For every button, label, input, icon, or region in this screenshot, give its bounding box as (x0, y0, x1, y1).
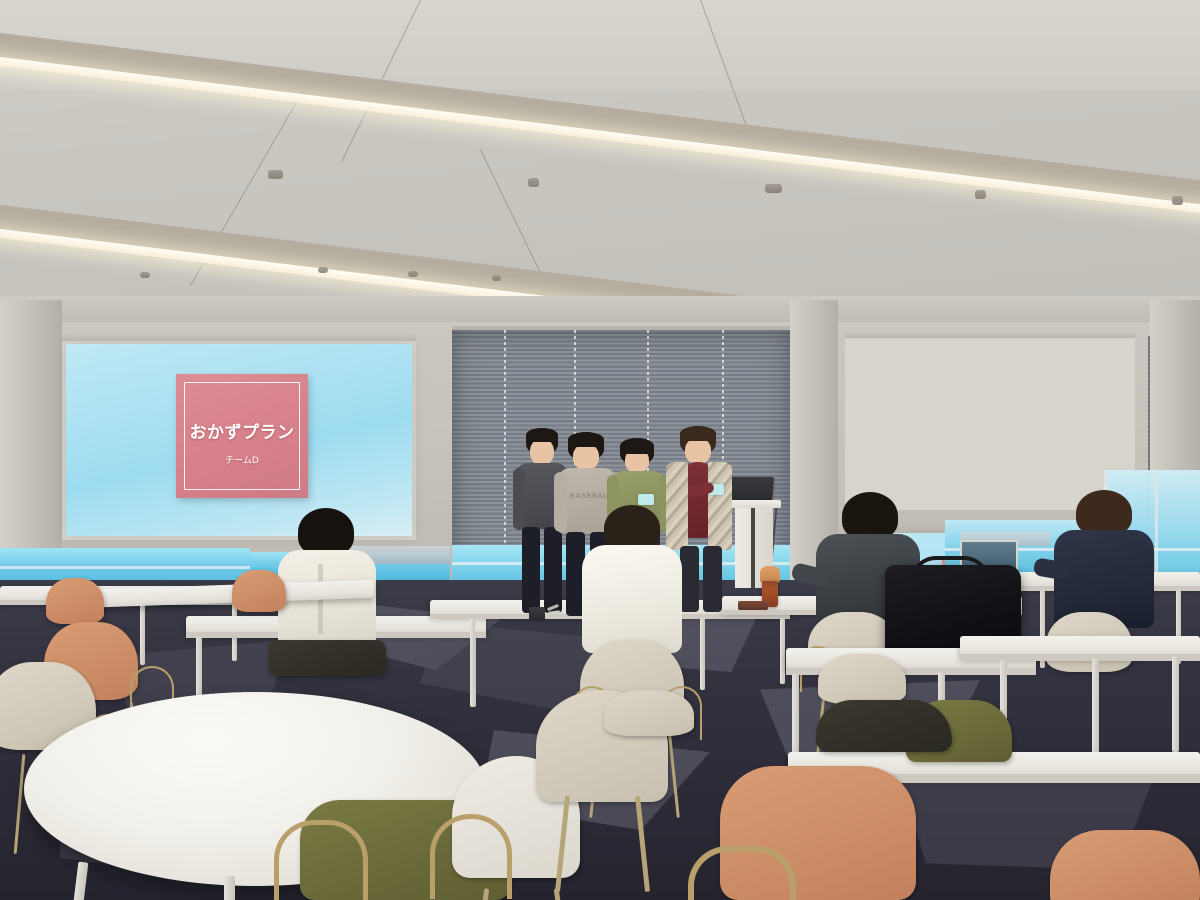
table-leg (700, 618, 705, 690)
slide-subtitle: チームD (176, 453, 308, 466)
lectern-stripe (751, 508, 755, 588)
left-screen-roller (62, 334, 416, 341)
shirt-panel-right (708, 462, 732, 550)
sprinkler-icon (975, 190, 986, 199)
structural-column (0, 300, 62, 590)
sprinkler-icon (528, 178, 539, 187)
table-leg (1092, 658, 1099, 756)
table-leg (780, 618, 785, 684)
left-projection-screen: おかずプラン チームD (66, 344, 412, 536)
downlight-icon (318, 267, 328, 273)
audience-shirt (278, 550, 376, 654)
window-mullion (1155, 470, 1158, 588)
table-leg (470, 618, 475, 688)
shirt-panel-left (666, 462, 688, 550)
downlight-icon (408, 271, 418, 277)
table-leg (1172, 656, 1179, 752)
phone-stand (529, 607, 545, 621)
sprinkler-icon (1172, 196, 1183, 205)
downlight-icon (140, 272, 150, 278)
table-leg (224, 876, 235, 900)
downlight-icon (492, 275, 501, 281)
right-screen-frame (845, 338, 1135, 510)
wall-soffit (0, 296, 1200, 322)
ceiling-speaker-icon (765, 184, 782, 193)
presentation-room-photo: おかずプラン チームD おかずプラン チームD (0, 0, 1200, 900)
table-leg (140, 603, 145, 665)
lectern-top (725, 500, 781, 508)
slide-title: おかずプラン (176, 418, 308, 443)
pencil-pouch (738, 601, 768, 610)
slide-card: おかずプラン チームD (176, 374, 308, 498)
tshirt-graphic-text: BASEBALL (570, 488, 606, 506)
table-edge (960, 654, 1200, 661)
name-badge (638, 494, 654, 505)
audience-shirt (582, 545, 682, 653)
right-screen-roller (845, 332, 1135, 338)
balcony-railing (0, 566, 250, 569)
ceiling-speaker-icon (268, 170, 283, 179)
